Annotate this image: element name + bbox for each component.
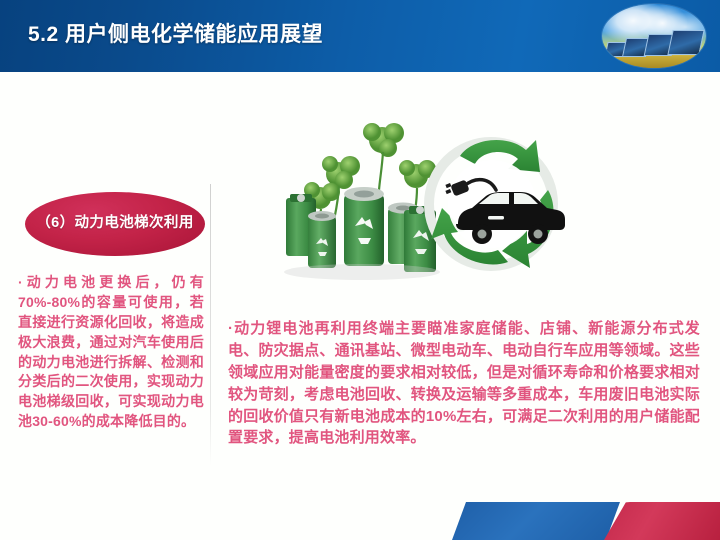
slide-footer: 日期: Content: 2017/11/8 页码: Page: 35 xyxy=(0,494,720,540)
footer-date-band xyxy=(452,502,620,540)
slide: 5.2 用户侧电化学储能应用展望 xyxy=(0,0,720,540)
battery-recycling-illustration xyxy=(276,98,566,303)
section-callout-badge: （6）动力电池梯次利用 xyxy=(25,192,205,256)
callout-label: （6）动力电池梯次利用 xyxy=(28,215,201,233)
battery-cylindrical-1 xyxy=(308,211,336,268)
footer-page-band xyxy=(604,502,720,540)
left-body-text: ·动力电池更换后，仍有70%-80%的容量可使用，若直接进行资源化回收，将造成极… xyxy=(18,273,204,432)
battery-cylindrical-center xyxy=(344,187,384,266)
page-title: 5.2 用户侧电化学储能应用展望 xyxy=(28,18,323,48)
solar-panel-photo xyxy=(602,4,706,68)
solar-panel-icon xyxy=(667,30,704,55)
slide-header: 5.2 用户侧电化学储能应用展望 xyxy=(0,0,720,72)
ground-strip xyxy=(602,56,706,68)
right-body-text: ·动力锂电池再利用终端主要瞄准家庭储能、店铺、新能源分布式发电、防灾据点、通讯基… xyxy=(228,318,700,449)
vertical-divider xyxy=(210,184,211,466)
